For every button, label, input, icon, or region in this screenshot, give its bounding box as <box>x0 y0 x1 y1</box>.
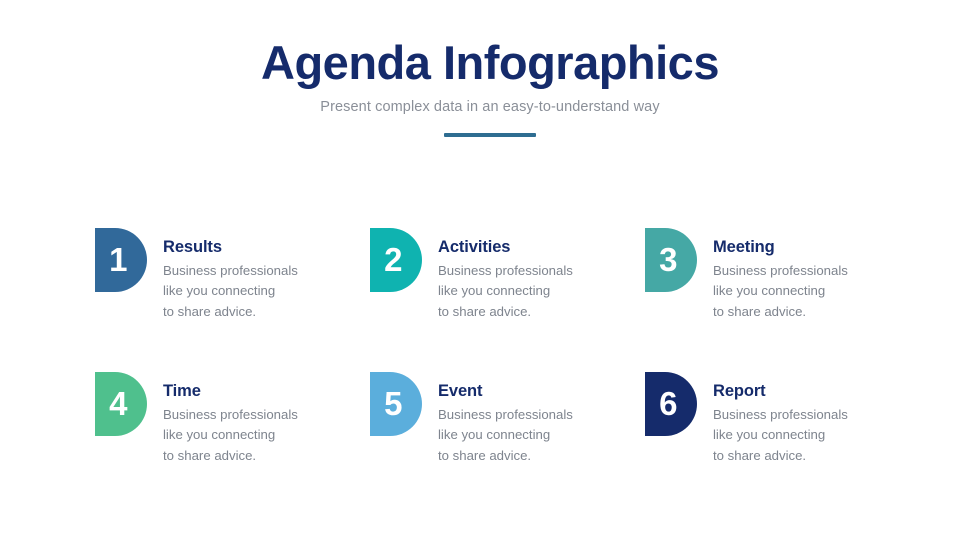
badge-number-label: 6 <box>659 387 677 420</box>
number-badge-3: 3 <box>645 228 697 292</box>
agenda-item-6[interactable]: 6 Report Business professionals like you… <box>645 372 920 516</box>
badge-number-label: 1 <box>109 243 127 276</box>
agenda-item-text-2: Activities Business professionals like y… <box>438 228 573 322</box>
agenda-item-text-6: Report Business professionals like you c… <box>713 372 848 466</box>
agenda-item-text-1: Results Business professionals like you … <box>163 228 298 322</box>
number-badge-5: 5 <box>370 372 422 436</box>
agenda-item-heading: Report <box>713 382 848 402</box>
agenda-item-body: Business professionals like you connecti… <box>163 261 298 322</box>
agenda-item-heading: Meeting <box>713 238 848 258</box>
agenda-item-text-3: Meeting Business professionals like you … <box>713 228 848 322</box>
agenda-item-heading: Activities <box>438 238 573 258</box>
agenda-item-heading: Event <box>438 382 573 402</box>
agenda-item-body: Business professionals like you connecti… <box>438 405 573 466</box>
agenda-items-grid: 1 Results Business professionals like yo… <box>95 228 905 516</box>
agenda-item-body: Business professionals like you connecti… <box>163 405 298 466</box>
agenda-item-body: Business professionals like you connecti… <box>713 261 848 322</box>
slide-header: Agenda Infographics Present complex data… <box>0 38 980 137</box>
agenda-item-text-5: Event Business professionals like you co… <box>438 372 573 466</box>
infographic-slide: Agenda Infographics Present complex data… <box>0 0 980 551</box>
agenda-item-2[interactable]: 2 Activities Business professionals like… <box>370 228 645 372</box>
agenda-item-body: Business professionals like you connecti… <box>438 261 573 322</box>
badge-number-label: 4 <box>109 387 127 420</box>
agenda-item-heading: Results <box>163 238 298 258</box>
number-badge-2: 2 <box>370 228 422 292</box>
badge-number-label: 3 <box>659 243 677 276</box>
agenda-item-5[interactable]: 5 Event Business professionals like you … <box>370 372 645 516</box>
number-badge-6: 6 <box>645 372 697 436</box>
number-badge-4: 4 <box>95 372 147 436</box>
agenda-item-3[interactable]: 3 Meeting Business professionals like yo… <box>645 228 920 372</box>
page-subtitle: Present complex data in an easy-to-under… <box>0 99 980 115</box>
agenda-item-body: Business professionals like you connecti… <box>713 405 848 466</box>
agenda-item-4[interactable]: 4 Time Business professionals like you c… <box>95 372 370 516</box>
badge-number-label: 2 <box>384 243 402 276</box>
badge-number-label: 5 <box>384 387 402 420</box>
agenda-item-1[interactable]: 1 Results Business professionals like yo… <box>95 228 370 372</box>
agenda-item-heading: Time <box>163 382 298 402</box>
agenda-item-text-4: Time Business professionals like you con… <box>163 372 298 466</box>
number-badge-1: 1 <box>95 228 147 292</box>
page-title: Agenda Infographics <box>0 38 980 87</box>
title-divider <box>444 133 536 137</box>
